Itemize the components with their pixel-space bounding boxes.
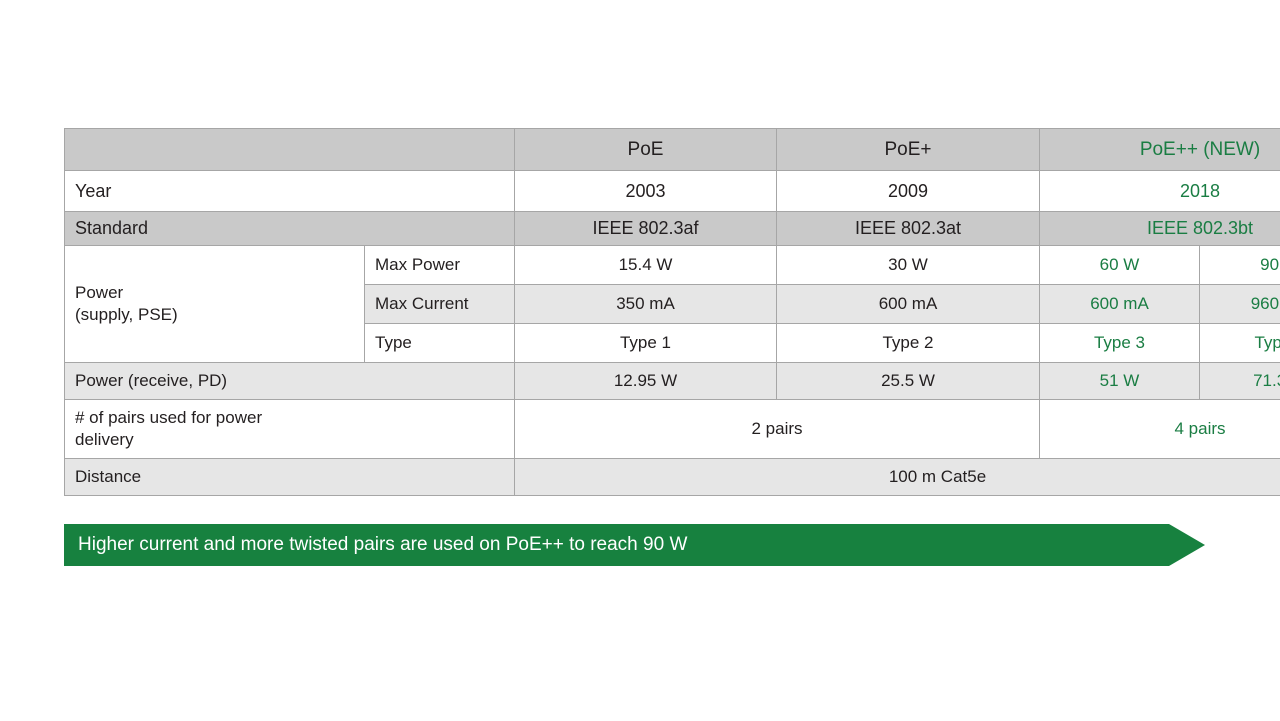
header-cell-blank [65,129,515,171]
header-cell-poe-plusplus: PoE++ (NEW) [1040,129,1280,171]
cell-pairs-poe-plusplus: 4 pairs [1040,400,1280,459]
banner-text: Higher current and more twisted pairs ar… [78,524,687,566]
header-cell-poe-plus: PoE+ [777,129,1040,171]
row-label-power-receive-pd: Power (receive, PD) [65,363,515,400]
table-row-standard: Standard IEEE 802.3af IEEE 802.3at IEEE … [65,212,1280,246]
sub-label-type: Type [365,324,515,363]
table-row-max-power: Power (supply, PSE) Max Power 15.4 W 30 … [65,246,1280,285]
cell-type-poe: Type 1 [515,324,777,363]
cell-max-power-type4: 90 W [1200,246,1280,285]
cell-power-receive-poe: 12.95 W [515,363,777,400]
cell-year-poe-plusplus: 2018 [1040,171,1280,212]
pairs-label-line1: # of pairs used for power [75,407,504,429]
cell-distance-all: 100 m Cat5e [515,459,1280,496]
cell-power-receive-poe-plus: 25.5 W [777,363,1040,400]
cell-max-power-type3: 60 W [1040,246,1200,285]
cell-max-current-type4: 960 mA [1200,285,1280,324]
table-row-distance: Distance 100 m Cat5e [65,459,1280,496]
row-label-standard: Standard [65,212,515,246]
cell-max-power-poe: 15.4 W [515,246,777,285]
table-row-power-receive: Power (receive, PD) 12.95 W 25.5 W 51 W … [65,363,1280,400]
cell-year-poe-plus: 2009 [777,171,1040,212]
table-row-pairs: # of pairs used for power delivery 2 pai… [65,400,1280,459]
cell-pairs-poe-and-poe-plus: 2 pairs [515,400,1040,459]
cell-type-poe-plus: Type 2 [777,324,1040,363]
cell-max-power-poe-plus: 30 W [777,246,1040,285]
cell-power-receive-type3: 51 W [1040,363,1200,400]
cell-max-current-poe-plus: 600 mA [777,285,1040,324]
cell-type-type3: Type 3 [1040,324,1200,363]
cell-max-current-poe: 350 mA [515,285,777,324]
slide-canvas: PoE PoE+ PoE++ (NEW) Year 2003 2009 2018… [0,0,1280,721]
power-supply-label-line2: (supply, PSE) [75,304,354,326]
row-label-distance: Distance [65,459,515,496]
cell-standard-poe-plusplus: IEEE 802.3bt [1040,212,1280,246]
summary-banner: Higher current and more twisted pairs ar… [64,524,1205,566]
pairs-label-line2: delivery [75,429,504,451]
sub-label-max-power: Max Power [365,246,515,285]
cell-max-current-type3: 600 mA [1040,285,1200,324]
poe-comparison-table: PoE PoE+ PoE++ (NEW) Year 2003 2009 2018… [64,128,1280,496]
cell-type-type4: Type 4 [1200,324,1280,363]
table-header-row: PoE PoE+ PoE++ (NEW) [65,129,1280,171]
sub-label-max-current: Max Current [365,285,515,324]
row-label-power-supply-pse: Power (supply, PSE) [65,246,365,363]
row-label-pairs: # of pairs used for power delivery [65,400,515,459]
row-label-year: Year [65,171,515,212]
cell-year-poe: 2003 [515,171,777,212]
cell-power-receive-type4: 71.3 W [1200,363,1280,400]
table-row-year: Year 2003 2009 2018 [65,171,1280,212]
cell-standard-poe-plus: IEEE 802.3at [777,212,1040,246]
cell-standard-poe: IEEE 802.3af [515,212,777,246]
header-cell-poe: PoE [515,129,777,171]
power-supply-label-line1: Power [75,282,354,304]
